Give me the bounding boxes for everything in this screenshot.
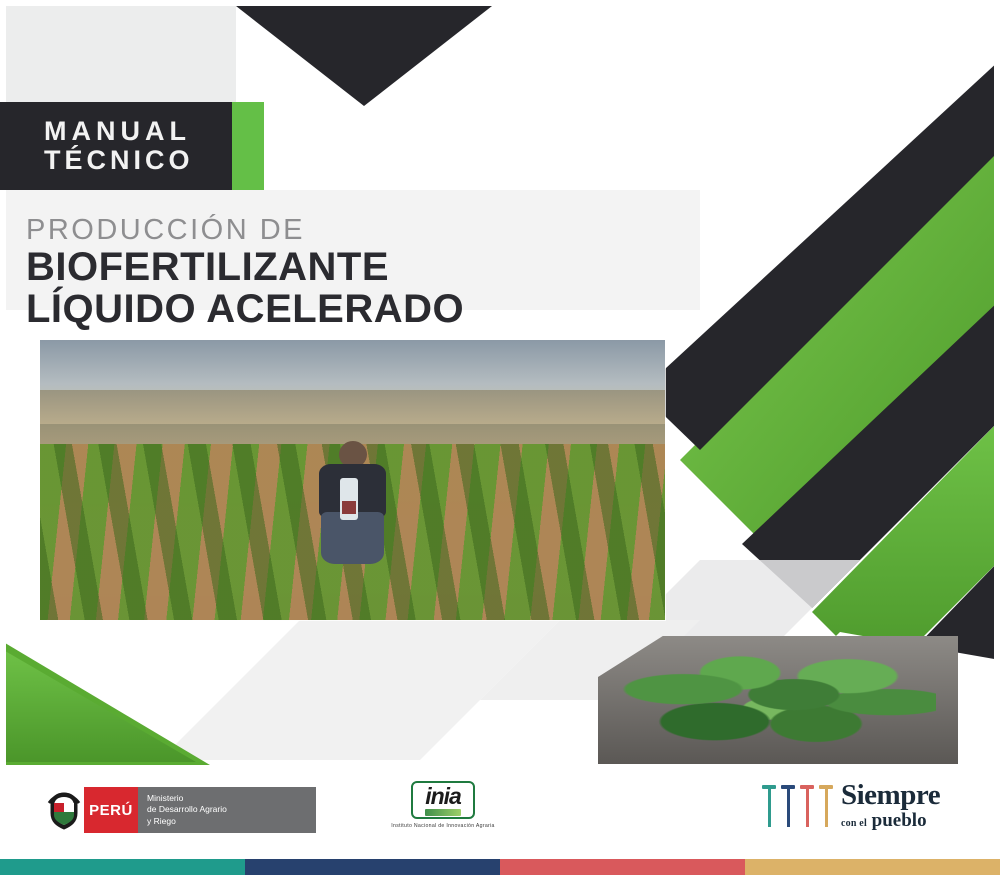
badge-dark-panel: MANUAL TÉCNICO bbox=[0, 102, 232, 190]
color-bar-segment-navy bbox=[245, 859, 500, 875]
badge-line-1: MANUAL bbox=[44, 118, 232, 146]
color-bar-segment-red bbox=[500, 859, 745, 875]
manual-tecnico-badge: MANUAL TÉCNICO bbox=[0, 102, 264, 190]
biofertilizer-bottle bbox=[340, 478, 358, 520]
photo-leaves bbox=[620, 646, 937, 754]
title-main-line-2: LÍQUIDO ACELERADO bbox=[26, 289, 464, 331]
farmer-field-photo bbox=[40, 340, 665, 620]
color-bar-segment-tan bbox=[745, 859, 1000, 875]
title-kicker: PRODUCCIÓN DE bbox=[26, 214, 464, 247]
siempre-pueblo-text: pueblo bbox=[872, 810, 927, 831]
publication-cover: MANUAL TÉCNICO PRODUCCIÓN DE BIOFERTILIZ… bbox=[0, 0, 1000, 875]
ministry-line-3: y Riego bbox=[147, 816, 316, 827]
plant-closeup-photo bbox=[598, 636, 958, 764]
siempre-mark-3 bbox=[800, 785, 814, 827]
badge-green-accent bbox=[232, 102, 264, 190]
farmer-legs bbox=[321, 512, 384, 564]
siempre-line-1: Siempre bbox=[841, 781, 940, 810]
bottom-color-bar bbox=[0, 859, 1000, 875]
photo-farmer-figure bbox=[309, 441, 397, 564]
page-title: PRODUCCIÓN DE BIOFERTILIZANTE LÍQUIDO AC… bbox=[26, 214, 464, 331]
inia-subtitle: Instituto Nacional de Innovación Agraria bbox=[383, 823, 503, 829]
siempre-wordmark: Siempre con el pueblo bbox=[841, 781, 940, 830]
siempre-con-el-pueblo-logo: Siempre con el pueblo bbox=[762, 781, 940, 830]
siempre-mark-1 bbox=[762, 785, 776, 827]
inia-logo: inia Instituto Nacional de Innovación Ag… bbox=[383, 781, 503, 829]
ministerio-desarrollo-agrario-riego-logo: PERÚ Ministerio de Desarrollo Agrario y … bbox=[44, 787, 316, 833]
peru-coat-of-arms-icon bbox=[44, 787, 84, 833]
title-main-line-1: BIOFERTILIZANTE bbox=[26, 247, 464, 289]
siempre-mark-4 bbox=[819, 785, 833, 827]
inia-green-bar bbox=[425, 809, 461, 816]
siempre-small-text: con el bbox=[841, 818, 867, 829]
color-bar-segment-teal bbox=[0, 859, 245, 875]
siempre-mark-2 bbox=[781, 785, 795, 827]
ministry-name-block: Ministerio de Desarrollo Agrario y Riego bbox=[138, 787, 316, 833]
siempre-line-2: con el pueblo bbox=[841, 811, 940, 830]
peru-label: PERÚ bbox=[84, 787, 138, 833]
ministry-line-1: Ministerio bbox=[147, 793, 316, 804]
ministry-line-2: de Desarrollo Agrario bbox=[147, 804, 316, 815]
inia-wordmark: inia bbox=[425, 785, 461, 808]
badge-line-2: TÉCNICO bbox=[44, 146, 232, 174]
siempre-marks-icon bbox=[762, 785, 833, 827]
inia-badge: inia bbox=[411, 781, 475, 819]
